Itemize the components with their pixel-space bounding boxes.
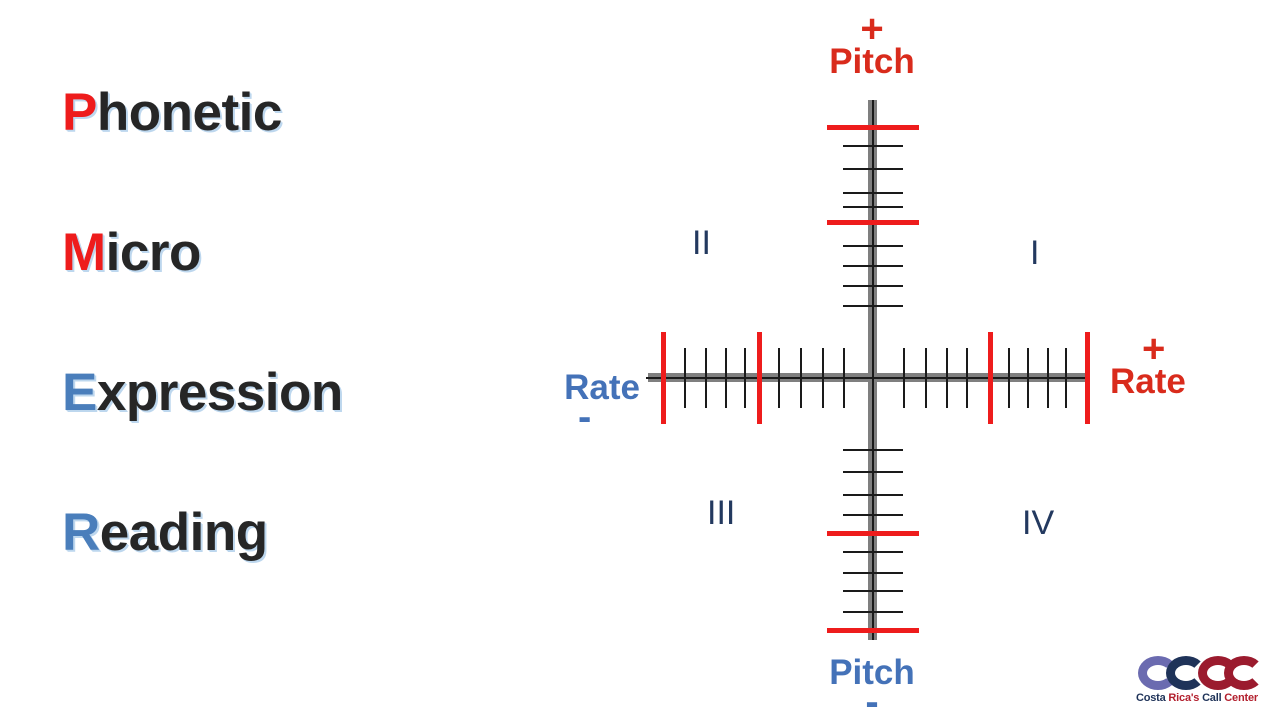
vertical-axis-line bbox=[872, 100, 874, 640]
axis-label-text: Rate bbox=[1110, 362, 1186, 401]
axis-label-pitch-negative: Pitch - bbox=[782, 655, 962, 712]
horizontal-axis-tick-minor bbox=[946, 348, 948, 408]
horizontal-axis-tick-minor bbox=[725, 348, 727, 408]
acronym-rest: honetic bbox=[97, 83, 282, 142]
acronym-initial: R bbox=[62, 503, 100, 562]
costa-rica-call-center-logo: Costa Rica's Call Center bbox=[1136, 656, 1266, 712]
axis-label-text: Pitch bbox=[829, 42, 915, 81]
vertical-axis-tick-minor bbox=[843, 192, 903, 194]
horizontal-axis-tick-major bbox=[661, 332, 666, 424]
logo-c-icon-red bbox=[1224, 656, 1264, 690]
acronym-initial: P bbox=[62, 83, 97, 142]
axis-label-rate-positive: + Rate bbox=[1110, 334, 1280, 399]
vertical-axis-tick-minor bbox=[843, 245, 903, 247]
acronym-initial: M bbox=[62, 223, 106, 282]
axis-label-text: Rate bbox=[564, 368, 640, 407]
logo-text: Costa Rica's Call Center bbox=[1136, 692, 1266, 704]
acronym-initial: E bbox=[62, 363, 97, 422]
vertical-axis-tick-minor bbox=[843, 551, 903, 553]
vertical-axis-tick-minor bbox=[843, 494, 903, 496]
vertical-axis-tick-minor bbox=[843, 572, 903, 574]
horizontal-axis-tick-minor bbox=[925, 348, 927, 408]
vertical-axis-tick-minor bbox=[843, 514, 903, 516]
vertical-axis-tick-minor bbox=[843, 168, 903, 170]
vertical-axis-tick-minor bbox=[843, 206, 903, 208]
plus-sign-icon: + bbox=[1110, 334, 1280, 364]
vertical-axis-tick-minor bbox=[843, 611, 903, 613]
horizontal-axis-tick-minor bbox=[1008, 348, 1010, 408]
vertical-axis-tick-minor bbox=[843, 285, 903, 287]
horizontal-axis-tick-major bbox=[1085, 332, 1090, 424]
vertical-axis-tick-minor bbox=[843, 471, 903, 473]
vertical-axis-tick-minor bbox=[843, 449, 903, 451]
quadrant-label-II: II bbox=[692, 226, 711, 260]
horizontal-axis-tick-minor bbox=[778, 348, 780, 408]
acronym-item-phonetic: Phonetic bbox=[62, 86, 492, 139]
horizontal-axis-tick-minor bbox=[744, 348, 746, 408]
logo-word-ricas: Rica's bbox=[1168, 692, 1199, 704]
vertical-axis-tick-minor bbox=[843, 590, 903, 592]
vertical-axis-tick-minor bbox=[843, 145, 903, 147]
acronym-rest: xpression bbox=[97, 363, 343, 422]
acronym-item-micro: Micro bbox=[62, 226, 492, 279]
acronym-rest: eading bbox=[100, 503, 268, 562]
horizontal-axis-line bbox=[646, 377, 1088, 379]
quadrant-label-III: III bbox=[707, 496, 735, 530]
plus-sign-icon: + bbox=[782, 14, 962, 44]
axis-label-pitch-positive: + Pitch bbox=[782, 14, 962, 79]
vertical-axis-tick-major bbox=[827, 220, 919, 225]
horizontal-axis-tick-minor bbox=[822, 348, 824, 408]
horizontal-axis-tick-minor bbox=[800, 348, 802, 408]
horizontal-axis-tick-minor bbox=[843, 348, 845, 408]
horizontal-axis-tick-minor bbox=[1047, 348, 1049, 408]
vertical-axis-tick-major bbox=[827, 531, 919, 536]
horizontal-axis-tick-minor bbox=[684, 348, 686, 408]
minus-sign-icon: - bbox=[782, 692, 962, 712]
quadrant-label-I: I bbox=[1030, 236, 1039, 270]
horizontal-axis-tick-minor bbox=[705, 348, 707, 408]
logo-c-marks bbox=[1136, 656, 1266, 692]
minus-sign-icon: - bbox=[460, 407, 640, 427]
vertical-axis-tick-minor bbox=[843, 305, 903, 307]
vertical-axis-tick-minor bbox=[843, 265, 903, 267]
quadrant-label-IV: IV bbox=[1022, 506, 1054, 540]
acronym-list: Phonetic Micro Expression Reading bbox=[62, 86, 492, 646]
logo-word-center: Center bbox=[1224, 692, 1258, 704]
vertical-axis-tick-major bbox=[827, 125, 919, 130]
horizontal-axis-tick-major bbox=[757, 332, 762, 424]
acronym-item-expression: Expression bbox=[62, 366, 492, 419]
logo-word-call: Call bbox=[1202, 692, 1221, 704]
horizontal-axis-tick-major bbox=[988, 332, 993, 424]
horizontal-axis-tick-minor bbox=[1065, 348, 1067, 408]
logo-word-costa: Costa bbox=[1136, 692, 1166, 704]
horizontal-axis-tick-minor bbox=[903, 348, 905, 408]
acronym-rest: icro bbox=[106, 223, 201, 282]
horizontal-axis-tick-minor bbox=[966, 348, 968, 408]
vertical-axis-tick-major bbox=[827, 628, 919, 633]
acronym-item-reading: Reading bbox=[62, 506, 492, 559]
axis-label-rate-negative: Rate - bbox=[460, 370, 640, 427]
horizontal-axis-tick-minor bbox=[1027, 348, 1029, 408]
